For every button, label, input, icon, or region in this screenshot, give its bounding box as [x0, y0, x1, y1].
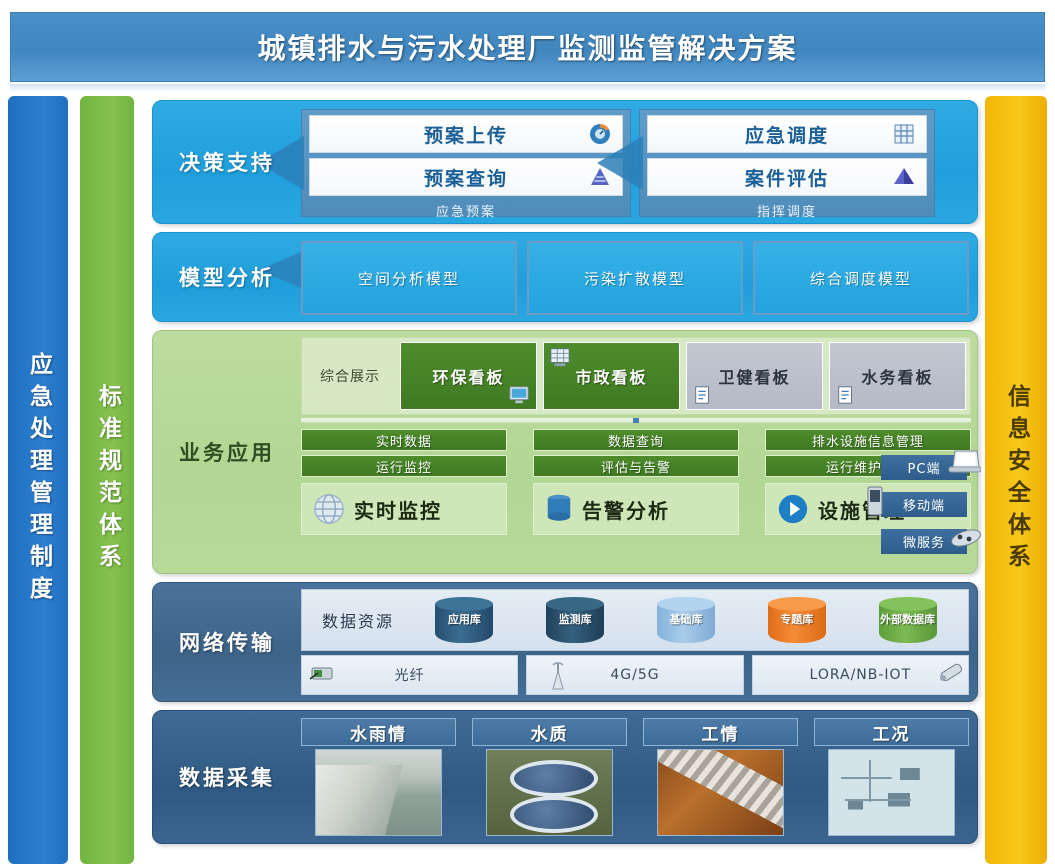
- dashboard-card-label: 市政看板: [575, 364, 647, 388]
- database-basic[interactable]: 基础库: [634, 597, 739, 643]
- dashboard-row: 综合展示 环保看板 市政看板: [301, 337, 971, 415]
- dashboard-card-label: 水务看板: [861, 364, 933, 388]
- database-label: 外部数据库: [879, 614, 937, 626]
- database-label: 应用库: [435, 614, 493, 626]
- decision-item-emergency-dispatch[interactable]: 应急调度: [647, 115, 927, 153]
- report-icon: [835, 385, 857, 405]
- client-chip-label: 移动端: [903, 495, 945, 514]
- model-box-dispatch[interactable]: 综合调度模型: [753, 241, 969, 315]
- database-label: 专题库: [768, 614, 826, 626]
- client-chip-pc[interactable]: PC端: [881, 455, 967, 480]
- arrow-icon: [597, 136, 643, 190]
- model-box-label: 综合调度模型: [810, 268, 912, 289]
- layer-network-transmission: 网络传输 数据资源 应用库 监测库: [152, 582, 978, 702]
- data-card-rainfall[interactable]: 水雨情: [301, 718, 456, 836]
- data-card-water-quality[interactable]: 水质: [472, 718, 627, 836]
- data-card-photo: [315, 749, 442, 836]
- data-card-row: 水雨情 水质 工情 工况: [301, 718, 969, 836]
- layer-network-label: 网络传输: [153, 583, 301, 701]
- client-chip-mobile[interactable]: 移动端: [881, 492, 967, 517]
- model-box-pollution[interactable]: 污染扩散模型: [527, 241, 743, 315]
- page-title: 城镇排水与污水处理厂监测监管解决方案: [257, 27, 797, 67]
- business-button-data-query[interactable]: 数据查询: [533, 429, 739, 451]
- decision-group-caption: 应急预案: [309, 201, 623, 220]
- laptop-icon: [947, 448, 981, 476]
- network-link-lora[interactable]: LORA/NB-IOT: [752, 655, 969, 695]
- client-chip-group: PC端 移动端: [881, 455, 967, 566]
- database-app[interactable]: 应用库: [412, 597, 517, 643]
- database-icon: [544, 492, 574, 526]
- business-button-drainage-facility-info[interactable]: 排水设施信息管理: [765, 429, 971, 451]
- pillar-information-security: 信息安全体系: [985, 96, 1047, 864]
- database-label: 监测库: [546, 614, 604, 626]
- model-box-spatial[interactable]: 空间分析模型: [301, 241, 517, 315]
- decision-item-label: 预案上传: [424, 121, 508, 148]
- sensor-icon: [934, 658, 966, 688]
- dashboard-card-environment[interactable]: 环保看板: [400, 342, 537, 410]
- dashboard-card-label: 卫健看板: [718, 364, 790, 388]
- dashboard-group-label: 综合展示: [306, 366, 394, 386]
- decision-item-plan-upload[interactable]: 预案上传: [309, 115, 623, 153]
- layer-business-label: 业务应用: [153, 331, 301, 573]
- play-circle-icon: [776, 492, 810, 526]
- pillar-left-inner-label: 标准规范体系: [96, 384, 119, 576]
- title-underline: [10, 84, 1045, 92]
- business-button-label: 运行监控: [376, 457, 432, 476]
- data-card-label: 工情: [702, 720, 740, 745]
- data-card-label: 工况: [873, 720, 911, 745]
- dashboard-card-water[interactable]: 水务看板: [829, 342, 966, 410]
- business-button-realtime-data[interactable]: 实时数据: [301, 429, 507, 451]
- network-link-label: 4G/5G: [610, 667, 659, 683]
- network-link-label: LORA/NB-IOT: [810, 667, 912, 683]
- pillar-right-label: 信息安全体系: [1005, 384, 1028, 576]
- antenna-icon: [549, 659, 567, 691]
- network-link-label: 光纤: [395, 665, 425, 685]
- monitor-icon: [508, 385, 530, 405]
- dashboard-card-health[interactable]: 卫健看板: [686, 342, 823, 410]
- pillar-standards-system: 标准规范体系: [80, 96, 134, 864]
- business-button-label: 评估与告警: [601, 457, 671, 476]
- decision-item-case-assessment[interactable]: 案件评估: [647, 158, 927, 196]
- section-divider: [301, 418, 971, 423]
- business-feature-realtime-monitoring[interactable]: 实时监控: [301, 483, 507, 535]
- business-columns: 实时数据 运行监控 实时监控: [301, 429, 971, 535]
- business-column-realtime: 实时数据 运行监控 实时监控: [301, 429, 507, 535]
- database-thematic[interactable]: 专题库: [744, 597, 849, 643]
- business-feature-label: 实时监控: [354, 495, 442, 524]
- decision-item-label: 案件评估: [745, 164, 829, 191]
- window-grid-icon: [549, 347, 571, 367]
- architecture-diagram: 城镇排水与污水处理厂监测监管解决方案 应急处理管理制度 标准规范体系 信息安全体…: [0, 0, 1055, 868]
- pillar-left-outer-label: 应急处理管理制度: [27, 352, 50, 608]
- dashboard-card-municipal[interactable]: 市政看板: [543, 342, 680, 410]
- layer-data-label: 数据采集: [153, 711, 301, 843]
- decision-group-emergency-plan: 预案上传 预案查询 应急预案: [301, 109, 631, 217]
- decision-item-plan-query[interactable]: 预案查询: [309, 158, 623, 196]
- business-button-operation-monitor[interactable]: 运行监控: [301, 455, 507, 477]
- client-chip-label: PC端: [908, 458, 941, 477]
- data-resource-row: 数据资源 应用库 监测库: [301, 589, 969, 651]
- page-title-banner: 城镇排水与污水处理厂监测监管解决方案: [10, 12, 1045, 82]
- mobile-phone-icon: [865, 485, 885, 517]
- layer-decision-support: 决策支持 预案上传 预案查询: [152, 100, 978, 224]
- device-icon: [949, 525, 983, 551]
- data-card-label: 水质: [531, 720, 569, 745]
- database-label: 基础库: [657, 614, 715, 626]
- layer-model-label: 模型分析: [153, 233, 301, 321]
- decision-item-label: 应急调度: [745, 121, 829, 148]
- pyramid-3d-icon: [892, 165, 916, 189]
- business-button-assessment-alarm[interactable]: 评估与告警: [533, 455, 739, 477]
- client-chip-label: 微服务: [903, 532, 945, 551]
- data-card-label: 水雨情: [350, 720, 407, 745]
- data-card-photo: [828, 749, 955, 836]
- globe-icon: [312, 492, 346, 526]
- data-resource-label: 数据资源: [310, 608, 406, 632]
- model-box-row: 空间分析模型 污染扩散模型 综合调度模型: [301, 241, 969, 315]
- model-box-label: 空间分析模型: [358, 268, 460, 289]
- business-feature-alarm-analysis[interactable]: 告警分析: [533, 483, 739, 535]
- layer-data-collection: 数据采集 水雨情 水质 工情 工况: [152, 710, 978, 844]
- model-box-label: 污染扩散模型: [584, 268, 686, 289]
- data-card-photo: [657, 749, 784, 836]
- layer-stack: 决策支持 预案上传 预案查询: [152, 100, 978, 852]
- decision-group-command-dispatch: 应急调度 案件评估 指挥调度: [639, 109, 935, 217]
- business-button-label: 数据查询: [608, 431, 664, 450]
- layer-model-analysis: 模型分析 空间分析模型 污染扩散模型 综合调度模型: [152, 232, 978, 322]
- business-feature-label: 告警分析: [582, 495, 670, 524]
- data-card-photo: [486, 749, 613, 836]
- network-link-fiber[interactable]: 光纤: [301, 655, 518, 695]
- data-card-operating-condition[interactable]: 工况: [814, 718, 969, 836]
- decision-group-caption: 指挥调度: [647, 201, 927, 220]
- network-link-4g5g[interactable]: 4G/5G: [526, 655, 743, 695]
- fiber-optic-icon: [308, 661, 338, 685]
- dashboard-card-label: 环保看板: [432, 364, 504, 388]
- database-external[interactable]: 外部数据库: [855, 597, 960, 643]
- business-button-label: 实时数据: [376, 431, 432, 450]
- layer-decision-label: 决策支持: [153, 101, 301, 223]
- client-chip-microservice[interactable]: 微服务: [881, 529, 967, 554]
- report-icon: [692, 385, 714, 405]
- pillar-emergency-management: 应急处理管理制度: [8, 96, 68, 864]
- layer-business-application: 业务应用 综合展示 环保看板 市政看板: [152, 330, 978, 574]
- database-monitoring[interactable]: 监测库: [523, 597, 628, 643]
- business-button-label: 排水设施信息管理: [812, 431, 924, 450]
- network-link-row: 光纤 4G/5G LORA/NB-IOT: [301, 655, 969, 695]
- data-card-engineering[interactable]: 工情: [643, 718, 798, 836]
- business-column-query: 数据查询 评估与告警 告警分析: [533, 429, 739, 535]
- decision-item-label: 预案查询: [424, 164, 508, 191]
- grid-table-icon: [892, 122, 916, 146]
